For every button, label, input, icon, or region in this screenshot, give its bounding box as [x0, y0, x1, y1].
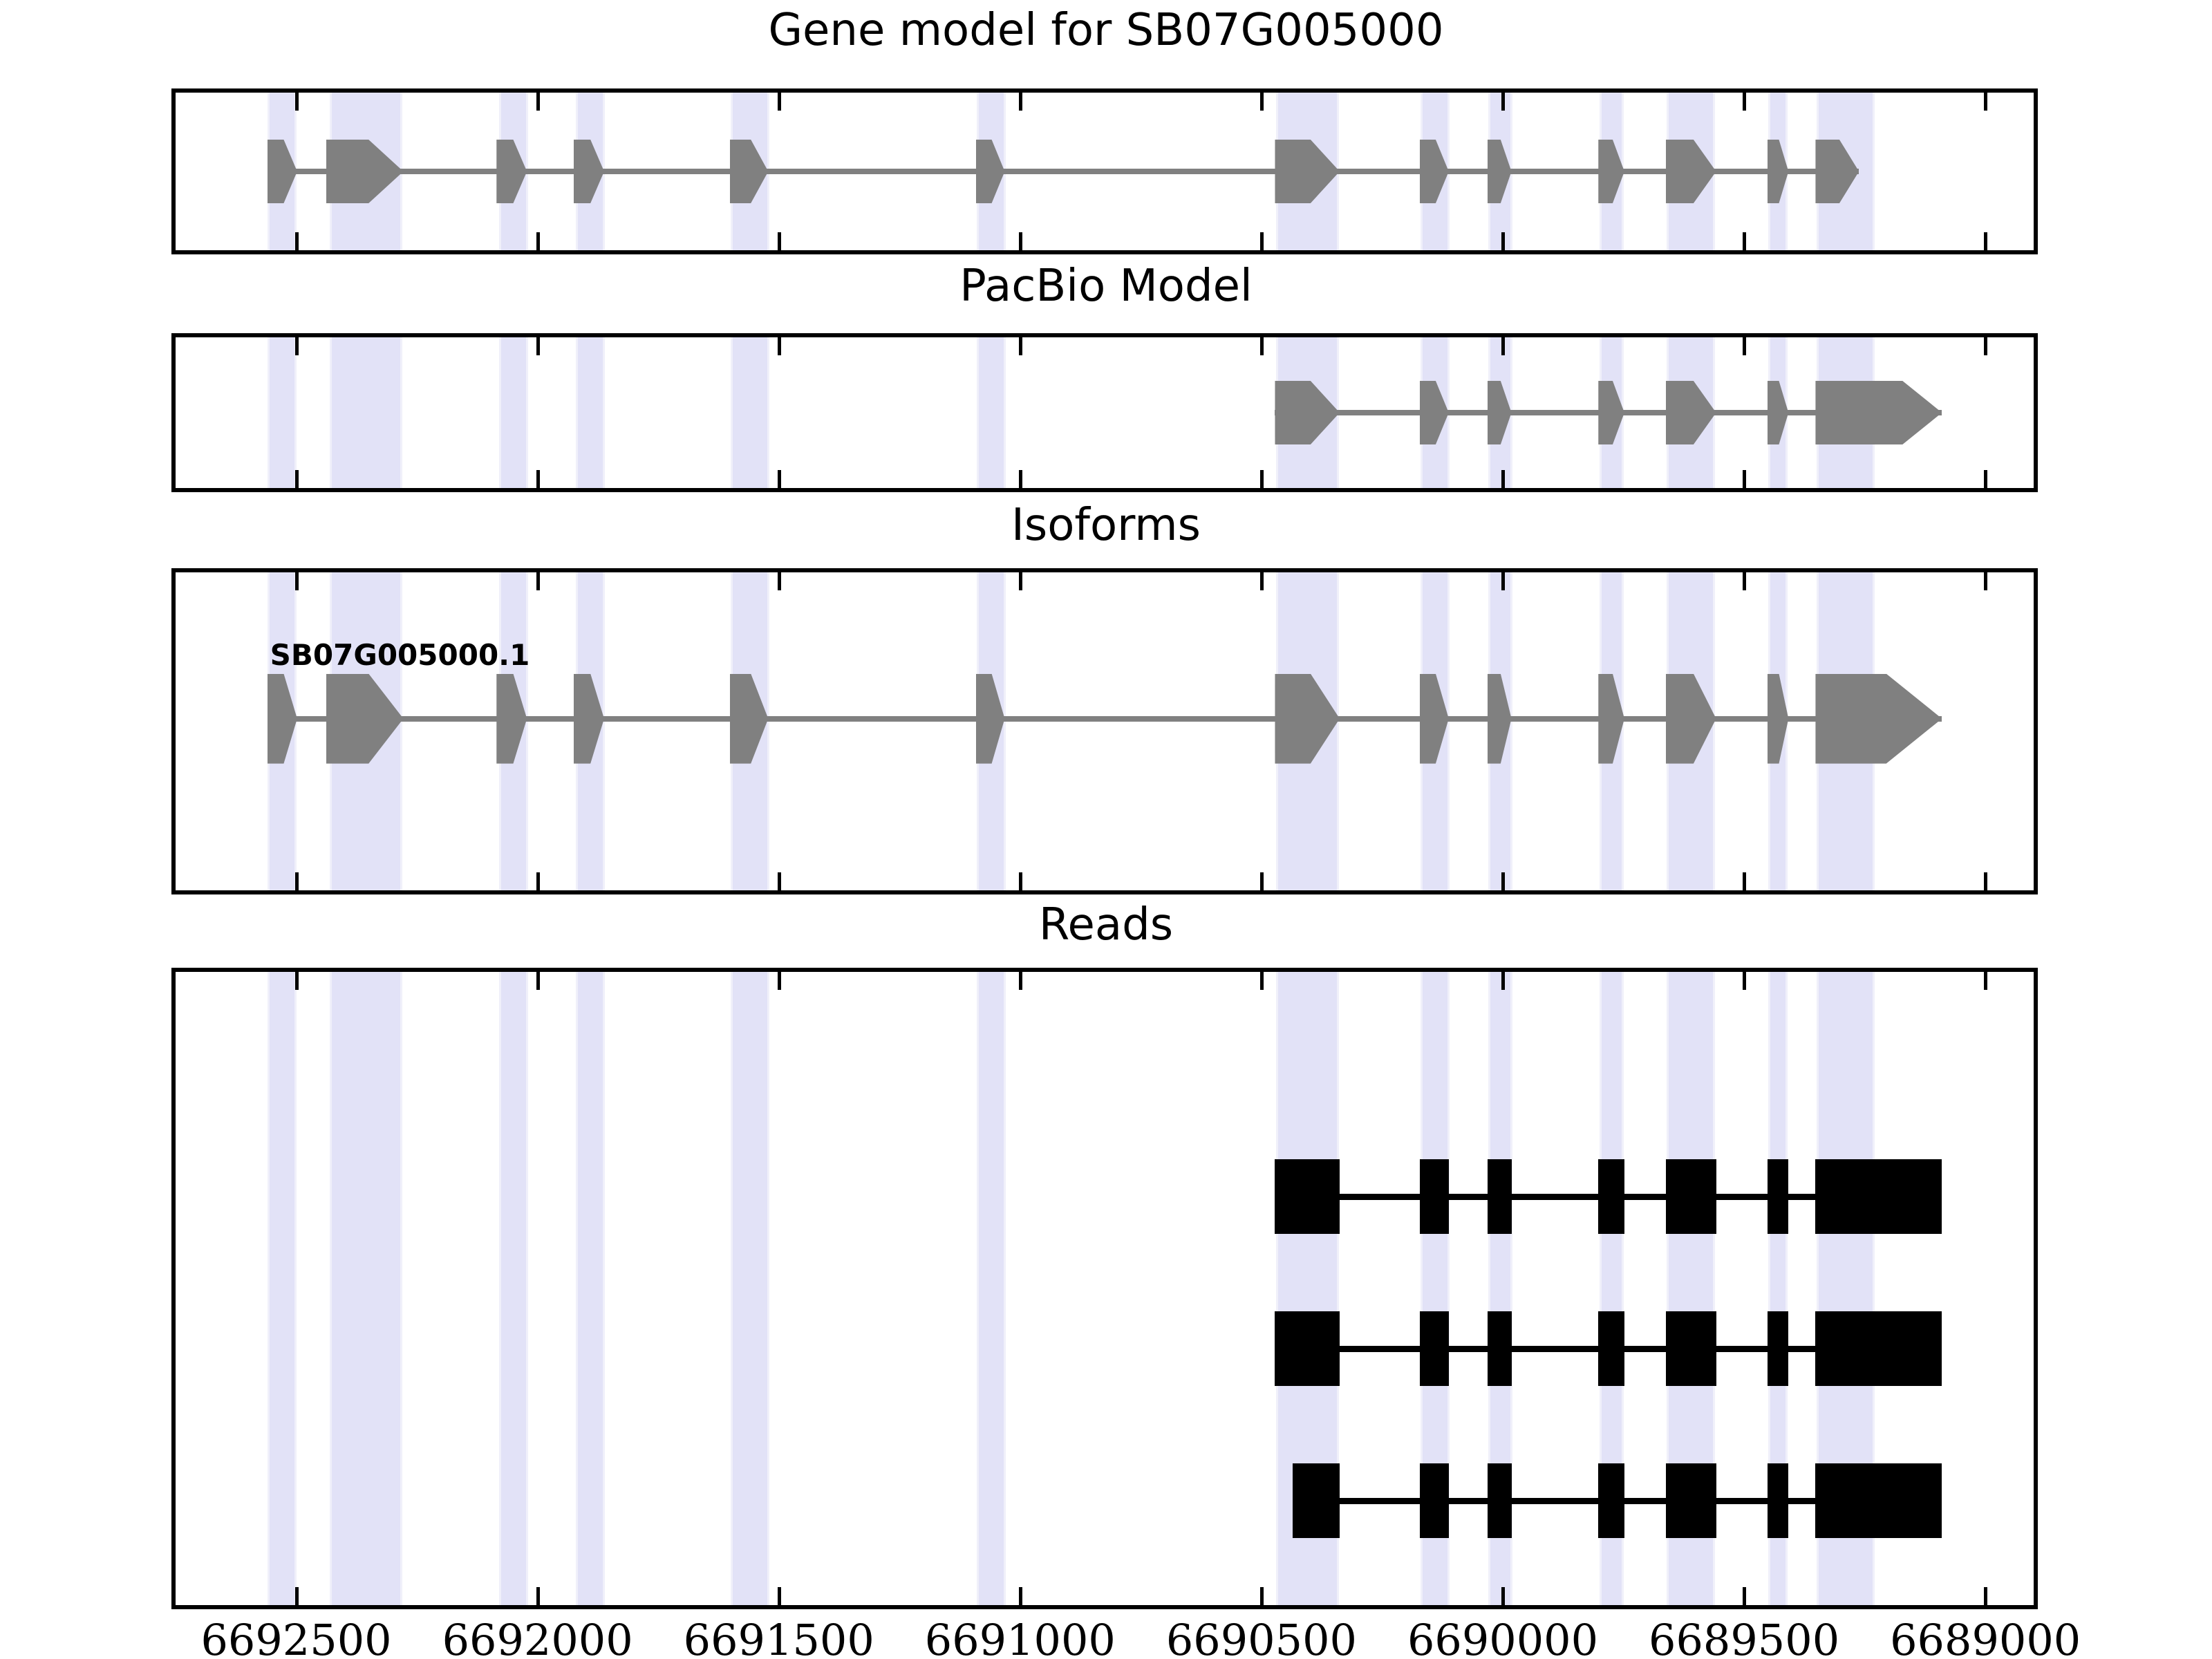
exon-block[interactable]	[1275, 1311, 1340, 1386]
axis-tick	[1984, 93, 1987, 111]
axis-tick	[1984, 232, 1987, 250]
x-axis-tick-label: 6691500	[684, 1615, 874, 1659]
axis-tick	[1260, 337, 1264, 355]
axis-tick	[1501, 470, 1505, 488]
axis-tick	[1984, 337, 1987, 355]
axis-tick	[1260, 872, 1264, 890]
axis-tick	[1501, 337, 1505, 355]
exon-block[interactable]	[1768, 1463, 1789, 1538]
axis-tick	[1984, 572, 1987, 590]
axis-tick	[1019, 972, 1022, 990]
x-axis-tick-label: 6689000	[1890, 1615, 2081, 1659]
isoforms-axes[interactable]: SB07G005000.1	[171, 568, 2038, 894]
axis-tick	[1260, 93, 1264, 111]
axis-tick	[778, 572, 781, 590]
x-axis-tick-label: 6692000	[442, 1615, 633, 1659]
reads-title: Reads	[0, 903, 2212, 947]
gene-model-axes[interactable]	[171, 88, 2038, 254]
axis-tick	[1260, 572, 1264, 590]
exon-block[interactable]	[1666, 1463, 1716, 1538]
exon-block[interactable]	[1598, 1311, 1624, 1386]
exon-block[interactable]	[1488, 1311, 1512, 1386]
highlight-band	[576, 972, 605, 1605]
axis-tick	[1260, 232, 1264, 250]
highlight-band	[330, 972, 402, 1605]
axis-tick	[1019, 572, 1022, 590]
axis-tick	[778, 470, 781, 488]
x-axis-tick-label: 6690000	[1407, 1615, 1598, 1659]
highlight-band	[499, 972, 528, 1605]
axis-tick	[1260, 1587, 1264, 1605]
axis-tick	[1984, 1587, 1987, 1605]
axis-tick	[1019, 337, 1022, 355]
gene-model-title: Gene model for SB07G005000	[0, 8, 2212, 53]
exon-block[interactable]	[1815, 674, 1942, 764]
exon-block[interactable]	[1420, 1311, 1449, 1386]
exon-block[interactable]	[1815, 381, 1942, 444]
exon-block[interactable]	[1420, 1463, 1449, 1538]
axis-tick	[1984, 872, 1987, 890]
axis-tick	[1743, 872, 1746, 890]
axis-tick	[1984, 470, 1987, 488]
axis-tick	[1019, 470, 1022, 488]
axis-tick	[536, 470, 540, 488]
isoforms-title: Isoforms	[0, 503, 2212, 547]
axis-tick	[1019, 93, 1022, 111]
axis-tick	[1743, 572, 1746, 590]
highlight-band	[268, 337, 297, 488]
axis-tick	[1501, 872, 1505, 890]
exon-block[interactable]	[1420, 1159, 1449, 1234]
axis-tick	[295, 1587, 299, 1605]
axis-tick	[295, 93, 299, 111]
exon-block[interactable]	[1293, 1463, 1340, 1538]
exon-block[interactable]	[1488, 1463, 1512, 1538]
axis-tick	[536, 972, 540, 990]
exon-block[interactable]	[1666, 1311, 1716, 1386]
axis-tick	[295, 872, 299, 890]
axis-tick	[536, 872, 540, 890]
highlight-band	[330, 337, 402, 488]
pacbio-model-axes[interactable]	[171, 333, 2038, 492]
reads-axes[interactable]	[171, 968, 2038, 1609]
axis-tick	[295, 337, 299, 355]
axis-tick	[1743, 1587, 1746, 1605]
axis-tick	[1019, 1587, 1022, 1605]
axis-tick	[295, 572, 299, 590]
highlight-band	[977, 972, 1006, 1605]
axis-tick	[536, 93, 540, 111]
axis-tick	[295, 232, 299, 250]
axis-tick	[1743, 93, 1746, 111]
axis-tick	[1984, 972, 1987, 990]
axis-tick	[778, 232, 781, 250]
isoform-label: SB07G005000.1	[270, 638, 530, 672]
exon-block[interactable]	[1598, 1463, 1624, 1538]
x-axis-tick-label: 6692500	[200, 1615, 391, 1659]
axis-tick	[1019, 232, 1022, 250]
axis-tick	[778, 337, 781, 355]
exon-block[interactable]	[1768, 1311, 1789, 1386]
x-axis-tick-label: 6690500	[1166, 1615, 1357, 1659]
axis-tick	[778, 1587, 781, 1605]
pacbio-model-title: PacBio Model	[0, 264, 2212, 308]
axis-tick	[1260, 470, 1264, 488]
axis-tick	[1501, 972, 1505, 990]
axis-tick	[536, 337, 540, 355]
exon-block[interactable]	[1488, 1159, 1512, 1234]
highlight-band	[268, 972, 297, 1605]
highlight-band	[731, 972, 769, 1605]
axis-tick	[295, 470, 299, 488]
axis-tick	[1501, 232, 1505, 250]
exon-block[interactable]	[1815, 1463, 1942, 1538]
axis-tick	[1501, 1587, 1505, 1605]
x-axis-tick-label: 6689500	[1649, 1615, 1839, 1659]
axis-tick	[1501, 93, 1505, 111]
axis-tick	[1260, 972, 1264, 990]
axis-tick	[1743, 232, 1746, 250]
axis-tick	[1743, 337, 1746, 355]
figure-root: Gene model for SB07G005000 PacBio Model …	[0, 0, 2212, 1659]
axis-tick	[778, 972, 781, 990]
highlight-band	[977, 337, 1006, 488]
highlight-band	[576, 337, 605, 488]
axis-tick	[1743, 972, 1746, 990]
axis-tick	[778, 93, 781, 111]
axis-tick	[536, 1587, 540, 1605]
exon-block[interactable]	[1815, 1159, 1942, 1234]
x-axis-tick-label: 6691000	[925, 1615, 1116, 1659]
exon-block[interactable]	[1815, 1311, 1942, 1386]
axis-tick	[1743, 470, 1746, 488]
exon-block[interactable]	[1666, 1159, 1716, 1234]
axis-tick	[1501, 572, 1505, 590]
exon-block[interactable]	[1598, 1159, 1624, 1234]
axis-tick	[1019, 872, 1022, 890]
axis-tick	[536, 572, 540, 590]
axis-tick	[295, 972, 299, 990]
axis-tick	[778, 872, 781, 890]
highlight-band	[499, 337, 528, 488]
exon-block[interactable]	[1275, 1159, 1340, 1234]
exon-block[interactable]	[1768, 1159, 1789, 1234]
axis-tick	[536, 232, 540, 250]
highlight-band	[731, 337, 769, 488]
